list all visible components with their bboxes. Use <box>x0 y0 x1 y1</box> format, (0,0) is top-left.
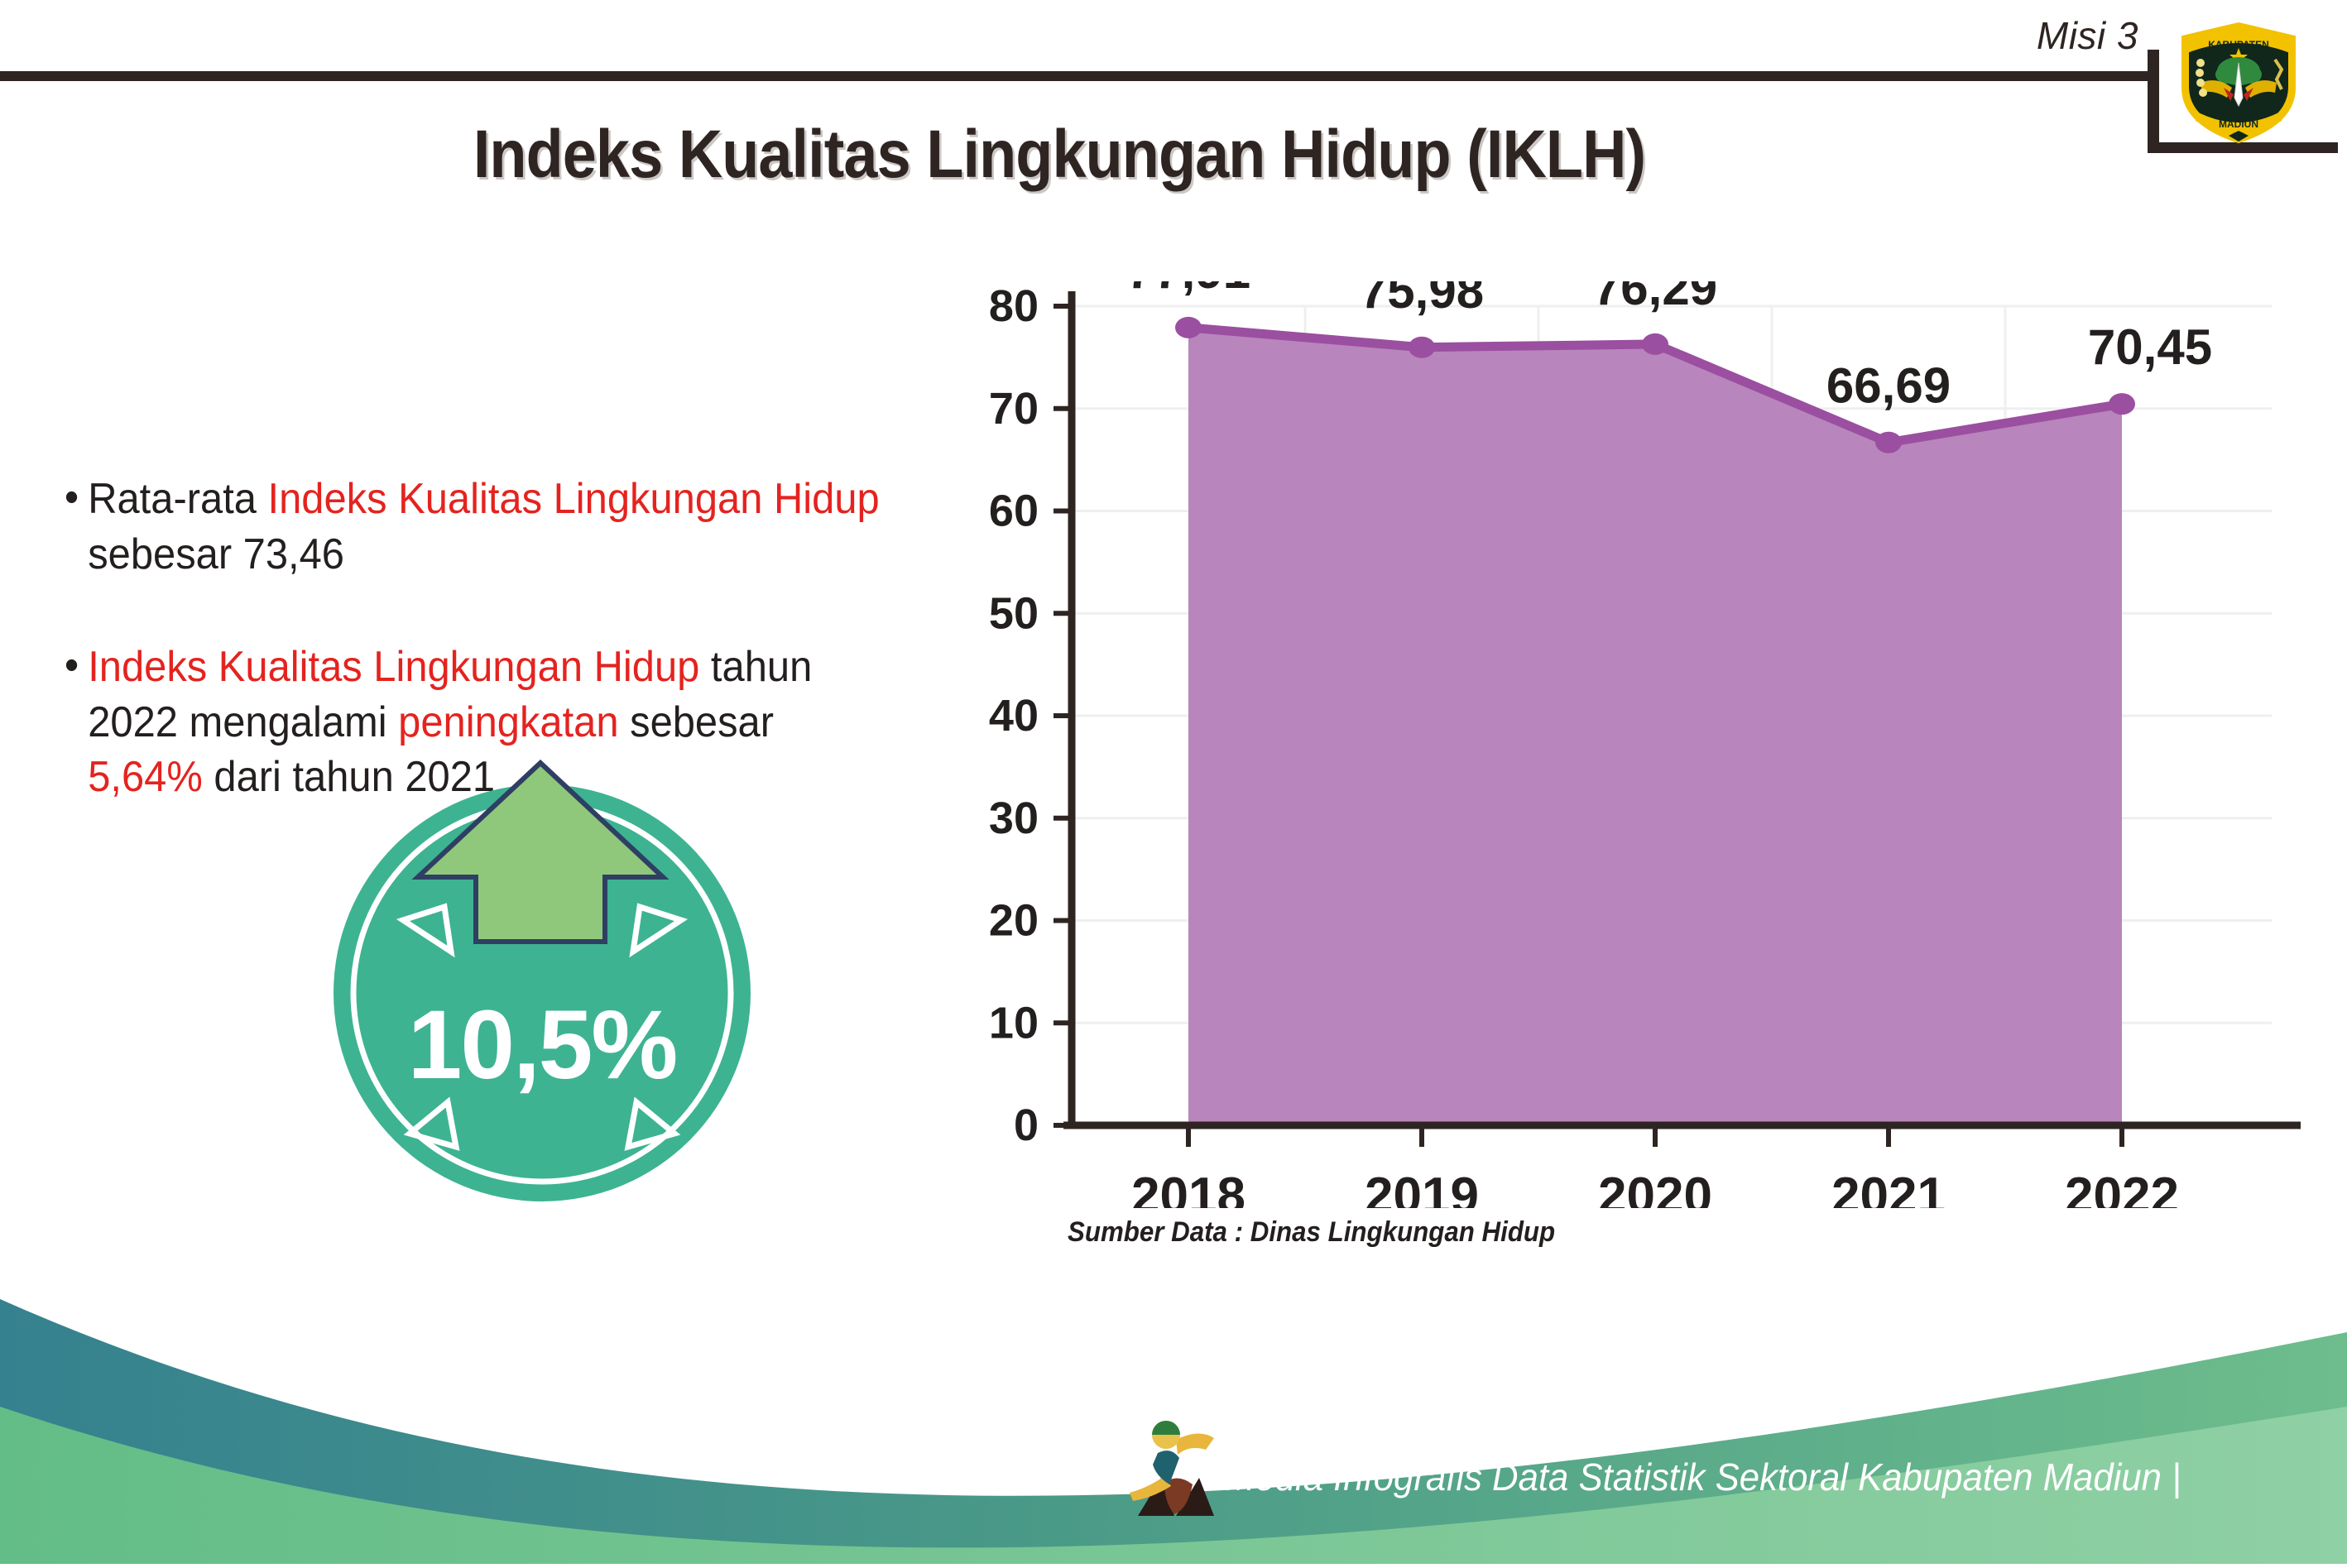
dancer-logo-icon <box>1128 1417 1219 1524</box>
bullet-0-run-1: Indeks Kualitas Lingkungan Hidup <box>268 475 880 523</box>
footer: Media Infografis Data Statistik Sektoral… <box>0 1283 2347 1564</box>
data-value-label: 70,45 <box>2088 319 2212 375</box>
bullet-1-run-4: 5,64% <box>88 753 203 801</box>
bullet-0-run-0: Rata-rata <box>88 475 267 523</box>
data-point-marker <box>2109 393 2135 415</box>
data-value-label: 75,98 <box>1360 281 1484 319</box>
y-tick-label: 40 <box>989 691 1039 741</box>
kabupaten-madiun-logo: KABUPATEN MADIUN <box>2172 12 2305 148</box>
x-tick-label: 2020 <box>1598 1168 1712 1208</box>
source-note: Sumber Data : Dinas Lingkungan Hidup <box>1068 1216 1555 1249</box>
logo-bottom-text: MADIUN <box>2219 118 2258 130</box>
y-tick-label: 30 <box>989 794 1039 843</box>
x-tick-label: 2018 <box>1131 1168 1245 1208</box>
list-item: Rata-rata Indeks Kualitas Lingkungan Hid… <box>65 472 897 582</box>
y-tick-label: 60 <box>989 487 1039 536</box>
data-value-label: 77,91 <box>1126 281 1250 299</box>
chart-area-fill <box>1188 328 2122 1125</box>
x-tick-label: 2019 <box>1365 1168 1479 1208</box>
increase-badge: 10,5% <box>327 745 757 1208</box>
header-rule <box>0 71 2157 81</box>
y-tick-label: 20 <box>989 896 1039 946</box>
data-point-marker <box>1642 333 1668 355</box>
iklh-area-chart: 010203040506070802018201920202021202277,… <box>952 281 2309 1208</box>
data-value-label: 76,29 <box>1593 281 1717 315</box>
y-tick-label: 80 <box>989 281 1039 331</box>
page-title: Indeks Kualitas Lingkungan Hidup (IKLH) <box>106 116 2013 194</box>
header-vertical-rule <box>2148 50 2159 153</box>
data-point-marker <box>1409 337 1435 358</box>
data-point-marker <box>1175 317 1202 338</box>
bullet-0-run-2: sebesar 73,46 <box>88 530 344 578</box>
footer-text: Media Infografis Data Statistik Sektoral… <box>1225 1455 2181 1499</box>
y-tick-label: 70 <box>989 384 1039 434</box>
y-tick-label: 10 <box>989 998 1039 1048</box>
bullet-1-run-3: sebesar <box>619 698 774 746</box>
data-point-marker <box>1875 432 1902 453</box>
data-value-label: 66,69 <box>1826 358 1951 414</box>
bullet-1-run-0: Indeks Kualitas Lingkungan Hidup <box>88 643 699 691</box>
x-tick-label: 2022 <box>2065 1168 2179 1208</box>
x-tick-label: 2021 <box>1831 1168 1946 1208</box>
y-tick-label: 50 <box>989 588 1039 638</box>
bullet-1-run-2: peningkatan <box>398 698 618 746</box>
mission-label: Misi 3 <box>2037 13 2138 58</box>
y-tick-label: 0 <box>1014 1100 1039 1150</box>
